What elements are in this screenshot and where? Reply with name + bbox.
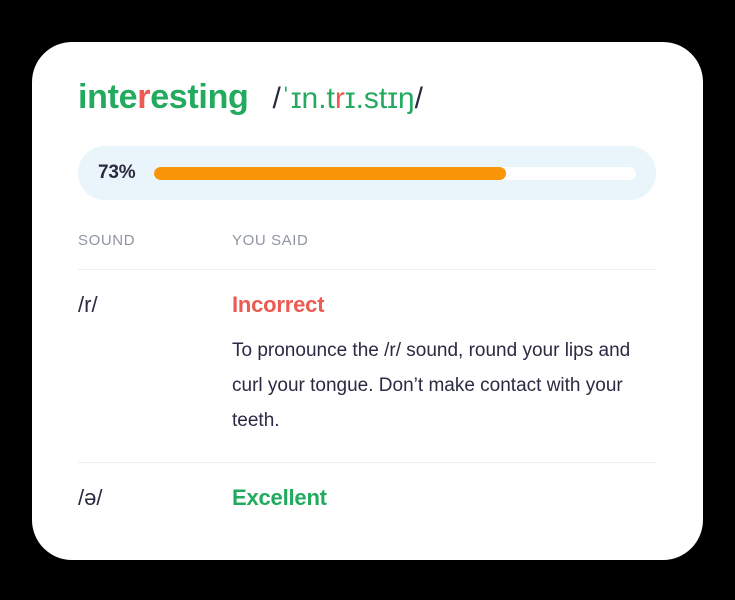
screen: interesting /ˈɪn.trɪ.stɪŋ/ 73% SOUND YOU…: [0, 0, 735, 600]
row-sound-cell: /ə/: [78, 485, 232, 511]
word-segment-1: inte: [78, 78, 137, 116]
score-percentage-label: 73%: [98, 162, 154, 184]
ipa-segment-3: ɪ.stɪŋ: [345, 82, 415, 115]
ipa-slash-open: /: [273, 82, 281, 115]
score-progress-track: [154, 167, 636, 180]
verdict-badge: Incorrect: [232, 292, 657, 318]
column-header-sound: SOUND: [78, 232, 232, 249]
ipa-slash-close: /: [415, 82, 423, 115]
row-feedback-cell: Incorrect To pronounce the /r/ sound, ro…: [232, 292, 657, 438]
row-feedback-cell: Excellent: [232, 485, 657, 511]
headword-word: interesting: [78, 78, 249, 117]
table-row[interactable]: /r/ Incorrect To pronounce the /r/ sound…: [78, 270, 657, 462]
score-progress-fill: [154, 167, 506, 180]
table-header-row: SOUND YOU SAID: [78, 232, 657, 269]
word-segment-3: esting: [150, 78, 248, 116]
table-row[interactable]: /ə/ Excellent: [78, 463, 657, 535]
verdict-badge: Excellent: [232, 485, 657, 511]
headword-ipa: /ˈɪn.trɪ.stɪŋ/: [273, 82, 423, 116]
headword-row: interesting /ˈɪn.trɪ.stɪŋ/: [78, 78, 423, 117]
word-segment-error: r: [137, 78, 150, 116]
sound-symbol: /r/: [78, 292, 232, 318]
pronunciation-feedback-card: interesting /ˈɪn.trɪ.stɪŋ/ 73% SOUND YOU…: [32, 42, 703, 560]
sound-feedback-table: SOUND YOU SAID /r/ Incorrect To pronounc…: [78, 232, 657, 536]
ipa-segment-error: r: [335, 82, 345, 115]
score-progress-panel: 73%: [78, 146, 656, 200]
column-header-you-said: YOU SAID: [232, 232, 657, 249]
pronunciation-tip: To pronounce the /r/ sound, round your l…: [232, 334, 657, 438]
sound-symbol: /ə/: [78, 485, 232, 511]
ipa-segment-1: ˈɪn.t: [281, 82, 335, 115]
row-sound-cell: /r/: [78, 292, 232, 438]
